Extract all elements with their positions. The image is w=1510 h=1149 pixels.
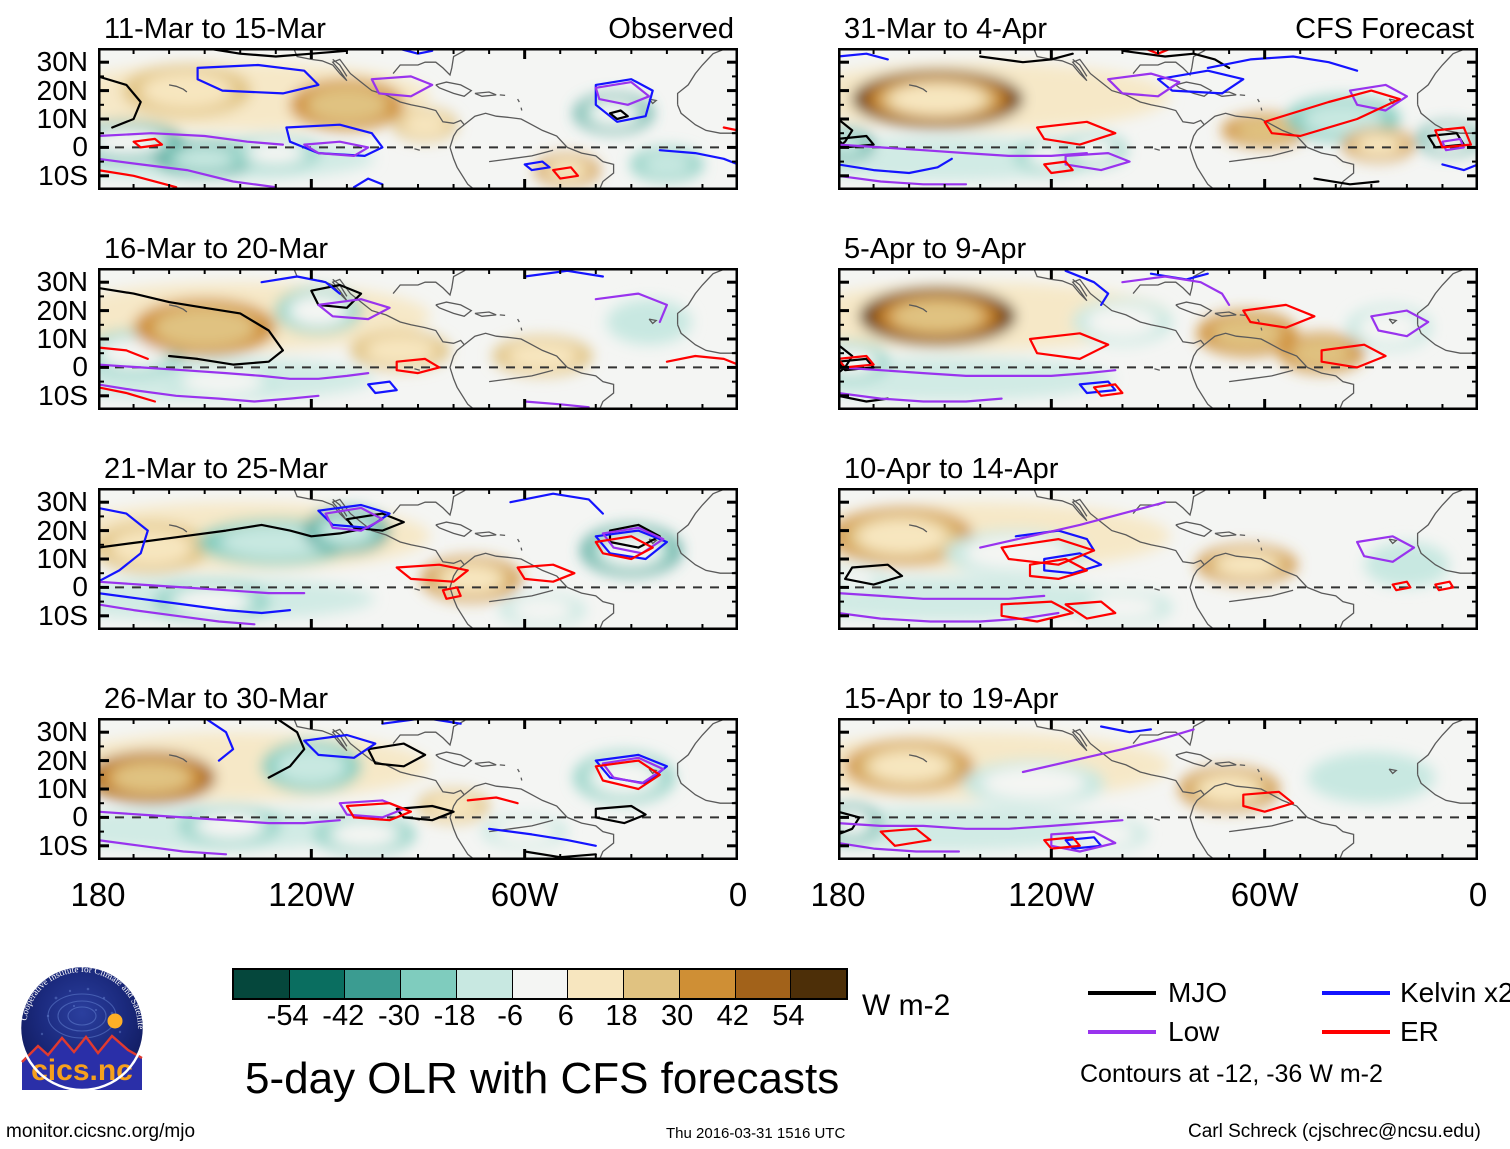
legend-label-kelvin: Kelvin x2 bbox=[1400, 979, 1510, 1007]
map-panel-obs-4 bbox=[98, 718, 738, 860]
anomaly-blob bbox=[141, 72, 234, 109]
coastline bbox=[521, 778, 522, 781]
anomaly-blob bbox=[333, 822, 396, 847]
footer-timestamp: Thu 2016-03-31 1516 UTC bbox=[666, 1126, 845, 1141]
coastline bbox=[521, 548, 522, 551]
anomaly-blob bbox=[1074, 139, 1115, 161]
coastline bbox=[521, 108, 522, 111]
anomaly-blob bbox=[1074, 822, 1136, 847]
coastline bbox=[1240, 535, 1245, 536]
y-tick-label-row2-10N: 10N bbox=[0, 325, 88, 353]
anomaly-blob bbox=[641, 152, 693, 177]
y-tick-label-row2-30N: 30N bbox=[0, 268, 88, 296]
x-tick-label-left-180: 180 bbox=[70, 878, 125, 911]
y-tick-label-row4-10S: 10S bbox=[0, 832, 88, 860]
anomaly-blob bbox=[173, 148, 236, 170]
panel-title-fcst-4: 15-Apr to 19-Apr bbox=[844, 685, 1058, 714]
y-tick-label-row1-10N: 10N bbox=[0, 105, 88, 133]
coastline bbox=[1261, 108, 1262, 111]
y-tick-label-row4-10N: 10N bbox=[0, 775, 88, 803]
anomaly-blob bbox=[291, 296, 345, 325]
x-tick-label-right-60W: 60W bbox=[1231, 878, 1299, 911]
column-header-right: CFS Forecast bbox=[1295, 15, 1474, 44]
logo-wordmark: cics.nc bbox=[31, 1054, 133, 1087]
map-panel-obs-2 bbox=[98, 268, 738, 410]
anomaly-blob bbox=[512, 598, 574, 623]
colorbar-segment-4 bbox=[457, 970, 513, 998]
coastline bbox=[500, 535, 505, 536]
y-tick-label-row4-20N: 20N bbox=[0, 747, 88, 775]
legend-label-mjo: MJO bbox=[1168, 979, 1227, 1007]
coastline bbox=[521, 328, 522, 331]
y-tick-label-row2-20N: 20N bbox=[0, 297, 88, 325]
y-tick-label-row1-10S: 10S bbox=[0, 162, 88, 190]
map-canvas bbox=[838, 488, 1478, 630]
colorbar-segment-9 bbox=[736, 970, 792, 998]
y-tick-label-row2-0: 0 bbox=[0, 353, 88, 381]
y-tick-label-row3-10S: 10S bbox=[0, 602, 88, 630]
colorbar-segment-7 bbox=[624, 970, 680, 998]
coastline bbox=[1240, 315, 1245, 316]
anomaly-blob bbox=[1215, 552, 1278, 577]
colorbar-segment-2 bbox=[345, 970, 401, 998]
anomaly-blob bbox=[857, 518, 947, 554]
x-tick-label-right-0: 0 bbox=[1469, 878, 1487, 911]
logo-sun-icon bbox=[108, 1014, 123, 1029]
figure-main-title: 5-day OLR with CFS forecasts bbox=[245, 1057, 839, 1101]
coastline bbox=[1261, 778, 1262, 781]
map-canvas bbox=[98, 268, 738, 410]
map-panel-fcst-1 bbox=[838, 48, 1478, 190]
legend-label-er: ER bbox=[1400, 1018, 1439, 1046]
panel-title-fcst-3: 10-Apr to 14-Apr bbox=[844, 455, 1058, 484]
legend-swatch-kelvin bbox=[1322, 991, 1390, 995]
x-tick-label-left-0: 0 bbox=[729, 878, 747, 911]
colorbar-unit-label: W m-2 bbox=[862, 991, 950, 1021]
map-canvas bbox=[98, 718, 738, 860]
anomaly-blob bbox=[1358, 311, 1420, 344]
y-tick-label-row3-0: 0 bbox=[0, 573, 88, 601]
colorbar-segment-1 bbox=[290, 970, 346, 998]
panel-title-fcst-1: 31-Mar to 4-Apr bbox=[844, 15, 1047, 44]
y-tick-label-row3-20N: 20N bbox=[0, 517, 88, 545]
olr-cfs-forecast-figure: 11-Mar to 15-MarObserved16-Mar to 20-Mar… bbox=[0, 0, 1510, 1149]
anomaly-blob bbox=[890, 83, 986, 115]
colorbar-segment-6 bbox=[568, 970, 624, 998]
footer-url[interactable]: monitor.cicsnc.org/mjo bbox=[6, 1122, 195, 1141]
y-tick-label-row3-10N: 10N bbox=[0, 545, 88, 573]
anomaly-blob bbox=[1086, 306, 1158, 339]
panel-title-fcst-2: 5-Apr to 9-Apr bbox=[844, 235, 1026, 264]
anomaly-blob bbox=[402, 112, 448, 137]
footer-author: Carl Schreck (cjschrec@ncsu.edu) bbox=[1188, 1122, 1481, 1141]
anomaly-blob bbox=[1307, 752, 1435, 803]
colorbar-segment-3 bbox=[401, 970, 457, 998]
coastline bbox=[1240, 95, 1245, 96]
map-canvas bbox=[838, 268, 1478, 410]
map-panel-fcst-4 bbox=[838, 718, 1478, 860]
legend-swatch-mjo bbox=[1088, 991, 1156, 995]
anomaly-blob bbox=[982, 767, 1085, 800]
map-panel-fcst-3 bbox=[838, 488, 1478, 630]
panel-title-obs-2: 16-Mar to 20-Mar bbox=[104, 235, 328, 264]
anomaly-blob bbox=[606, 299, 691, 344]
anomaly-blob bbox=[249, 142, 303, 164]
coastline bbox=[1240, 765, 1245, 766]
map-canvas bbox=[98, 488, 738, 630]
colorbar bbox=[232, 968, 848, 1000]
coastline bbox=[1261, 328, 1262, 331]
map-canvas bbox=[838, 48, 1478, 190]
y-tick-label-row1-20N: 20N bbox=[0, 77, 88, 105]
anomaly-blob bbox=[1364, 542, 1449, 587]
x-tick-label-right-120W: 120W bbox=[1008, 878, 1094, 911]
y-tick-label-row4-30N: 30N bbox=[0, 718, 88, 746]
x-tick-label-left-60W: 60W bbox=[491, 878, 559, 911]
coastline bbox=[500, 95, 505, 96]
anomaly-blob bbox=[506, 342, 578, 371]
map-panel-obs-1 bbox=[98, 48, 738, 190]
colorbar-segment-0 bbox=[234, 970, 290, 998]
map-canvas bbox=[98, 48, 738, 190]
x-tick-label-left-120W: 120W bbox=[268, 878, 354, 911]
anomaly-blob bbox=[110, 529, 192, 566]
colorbar-segment-5 bbox=[513, 970, 569, 998]
colorbar-tick-54: 54 bbox=[748, 1002, 828, 1031]
anomaly-blob bbox=[1198, 775, 1261, 804]
panel-title-obs-1: 11-Mar to 15-Mar bbox=[104, 15, 326, 44]
coastline bbox=[500, 315, 505, 316]
coastline bbox=[500, 765, 505, 766]
y-tick-label-row2-10S: 10S bbox=[0, 382, 88, 410]
colorbar-segment-10 bbox=[791, 970, 846, 998]
x-tick-label-right-180: 180 bbox=[810, 878, 865, 911]
legend-swatch-er bbox=[1322, 1030, 1390, 1034]
y-tick-label-row1-0: 0 bbox=[0, 133, 88, 161]
y-tick-label-row4-0: 0 bbox=[0, 803, 88, 831]
legend-label-low: Low bbox=[1168, 1018, 1219, 1046]
y-tick-label-row3-30N: 30N bbox=[0, 488, 88, 516]
anomaly-blob bbox=[275, 748, 347, 785]
map-panel-fcst-2 bbox=[838, 268, 1478, 410]
legend-swatch-low bbox=[1088, 1030, 1156, 1034]
anomaly-blob bbox=[111, 761, 192, 793]
colorbar-segment-8 bbox=[680, 970, 736, 998]
y-tick-label-row1-30N: 30N bbox=[0, 48, 88, 76]
map-canvas bbox=[838, 718, 1478, 860]
contour-level-note: Contours at -12, -36 W m-2 bbox=[1080, 1062, 1383, 1087]
cics-nc-logo: Cooperative Institute for Climate and Sa… bbox=[12, 958, 152, 1098]
coastline bbox=[1261, 548, 1262, 551]
anomaly-blob bbox=[1356, 134, 1401, 156]
column-header-left: Observed bbox=[608, 15, 734, 44]
cics-nc-logo-svg: Cooperative Institute for Climate and Sa… bbox=[12, 958, 152, 1098]
panel-title-obs-4: 26-Mar to 30-Mar bbox=[104, 685, 328, 714]
panel-title-obs-3: 21-Mar to 25-Mar bbox=[104, 455, 328, 484]
map-panel-obs-3 bbox=[98, 488, 738, 630]
anomaly-blob bbox=[892, 300, 984, 333]
